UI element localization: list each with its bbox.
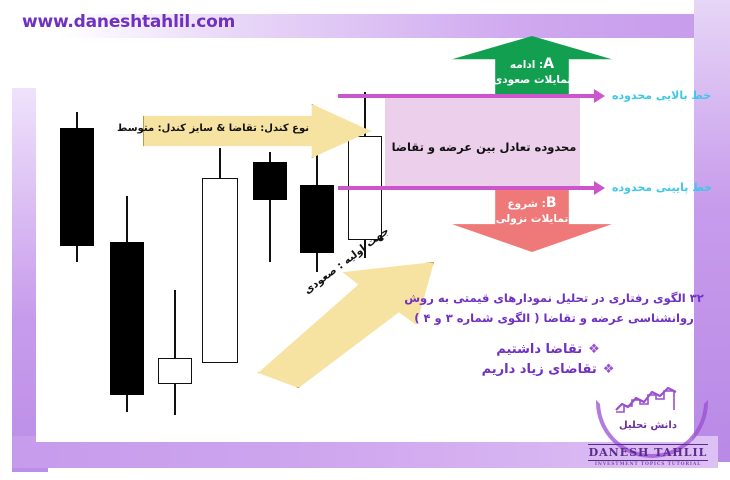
candlestick-4 [202,148,238,363]
description-line-1: ۳۲ الگوی رفتاری در تحلیل نمودارهای قیمتی… [398,288,710,308]
label-b: B [546,195,557,211]
candlestick-2 [110,196,144,412]
candle-body-hollow [158,358,192,384]
bullet-list: ❖تقاضا داشتیم❖تقاضای زیاد داریم [398,340,698,380]
candle-body-filled [253,162,287,200]
description-block: ۳۲ الگوی رفتاری در تحلیل نمودارهای قیمتی… [398,288,710,328]
candlestick-1 [60,112,94,262]
candle-body-hollow [202,178,238,363]
logo-subtitle: INVESTMENT TOPICS TUTORIAL [588,462,708,467]
arrow-a-line1: : ادامه [510,59,543,71]
label-a: A [543,56,554,72]
candle-body-filled [300,185,334,253]
zone-upper-line [338,94,596,98]
candlestick-5 [253,152,287,262]
up-arrow-text: A: ادامه تمایلات صعودی [452,56,612,87]
description-line-2: روانشناسی عرضه و تقاضا ( الگوی شماره ۳ و… [398,308,710,328]
brand-logo: دانش تحلیل DANESH TAHLIL INVESTMENT TOPI… [588,382,708,468]
arrow-a-line2: تمایلات صعودی [452,74,612,87]
zone-upper-caption: خط بالایی محدوده [612,89,711,102]
bullet-marker-icon: ❖ [603,360,615,380]
bullet-item-1: ❖تقاضا داشتیم [398,340,698,360]
zone-lower-caption: خط پایینی محدوده [612,181,712,194]
up-arrow-callout-a: A: ادامه تمایلات صعودی [452,36,612,94]
candle-body-filled [110,242,144,395]
bullet-marker-icon: ❖ [588,340,600,360]
candle-body-filled [60,128,94,246]
arrow-b-line1: : شروع [507,198,545,210]
logo-latin-name: DANESH TAHLIL [588,444,708,461]
candle-wick [174,290,176,415]
equilibrium-zone-label: محدوده تعادل بین عرضه و تقاضا [388,140,580,154]
down-arrow-callout-b: B: شروع تمایلات نزولی [452,190,612,252]
bullet-item-2: ❖تقاضای زیاد داریم [398,360,698,380]
bullet-text: تقاضا داشتیم [496,342,582,357]
bullet-text: تقاضای زیاد داریم [482,362,597,377]
candle-type-text: نوع کندل: تقاضا & سایز کندل: متوسط [149,123,309,134]
slide-canvas: www.daneshtahlil.com محدوده تعادل بین عر… [0,0,730,480]
logo-farsi-name: دانش تحلیل [588,420,708,431]
arrow-b-line2: تمایلات نزولی [452,213,612,226]
site-url-text: www.daneshtahlil.com [22,12,235,32]
down-arrow-text: B: شروع تمایلات نزولی [452,195,612,226]
candle-type-callout: نوع کندل: تقاضا & سایز کندل: متوسط [143,104,371,158]
candlestick-3 [158,290,192,415]
